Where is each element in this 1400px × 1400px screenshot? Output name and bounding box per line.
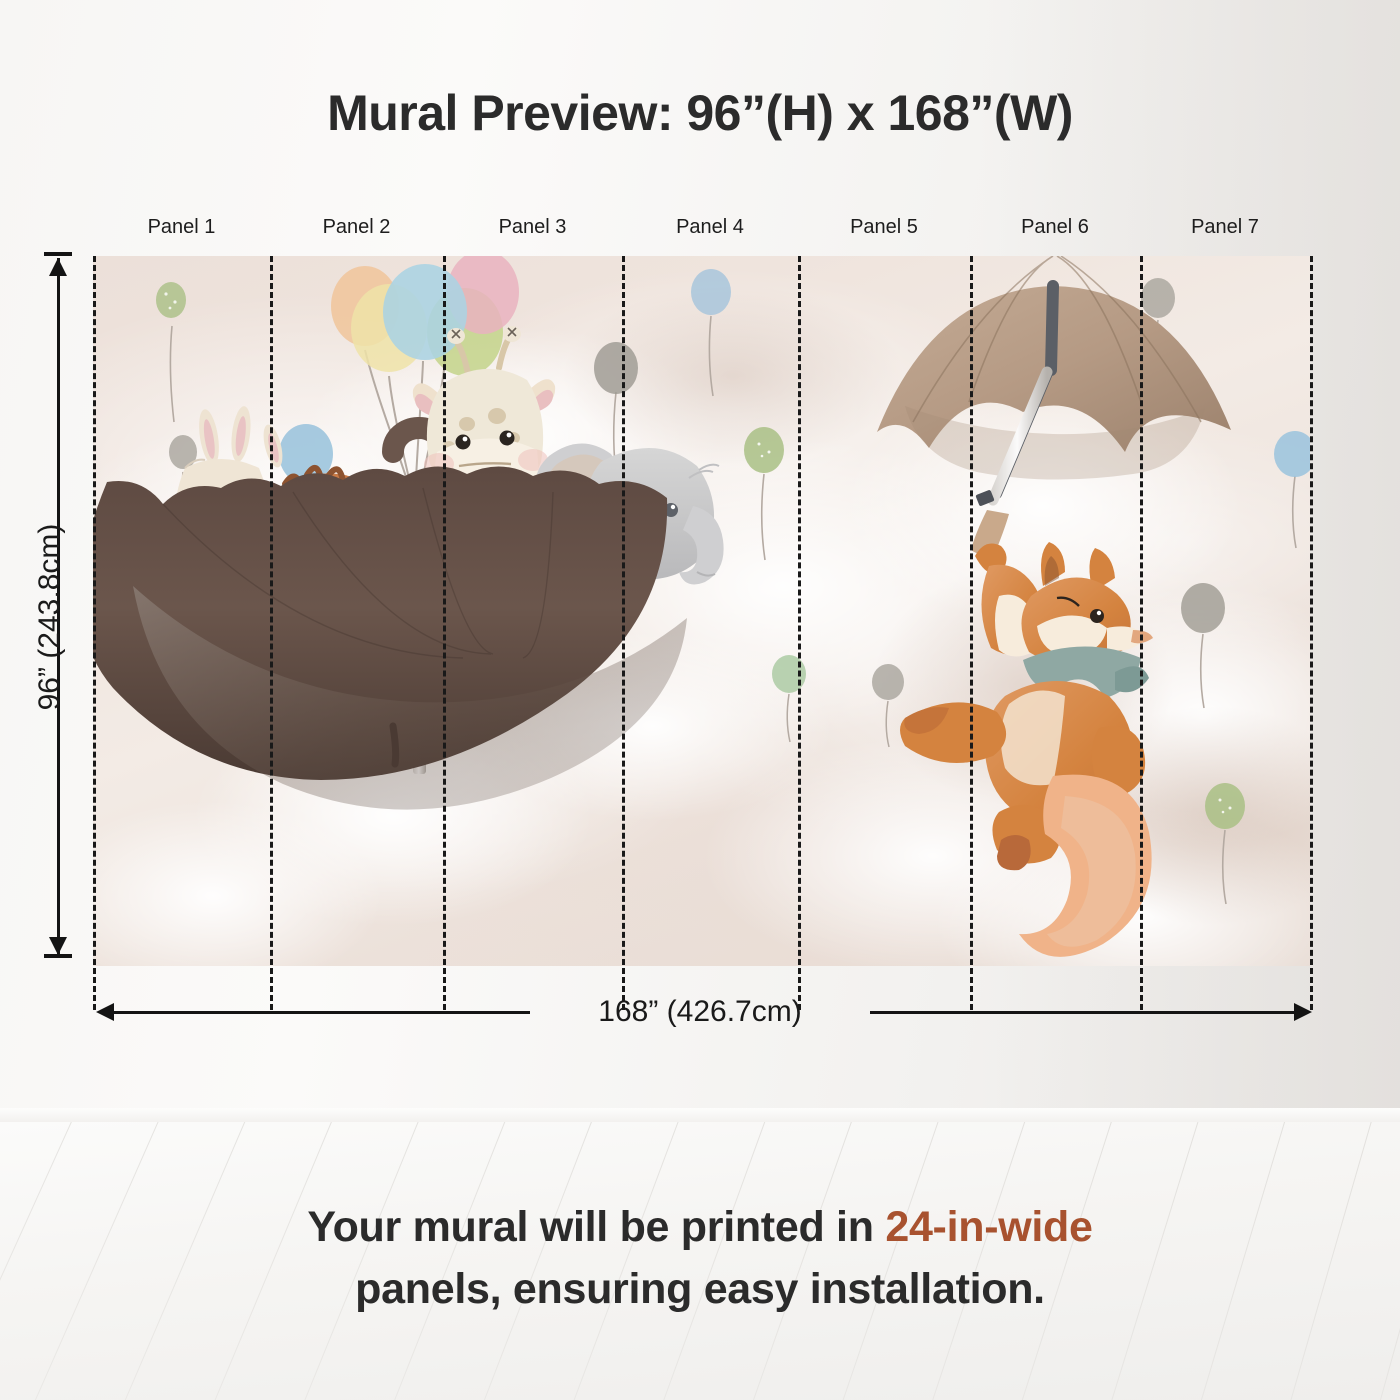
height-arrow-down [49, 937, 67, 955]
panel-label-4: Panel 4 [622, 216, 798, 239]
panel-label-6: Panel 6 [970, 216, 1140, 239]
panel-divider-4 [798, 256, 801, 1010]
width-dimension-label: 168” (426.7cm) [530, 995, 870, 1029]
panel-divider-5 [970, 256, 973, 1010]
panel-divider-3 [622, 256, 625, 1010]
panel-label-7: Panel 7 [1140, 216, 1310, 239]
height-tick-bottom [44, 954, 72, 958]
caption-prefix: Your mural will be printed in [307, 1203, 885, 1251]
panel-divider-2 [443, 256, 446, 1010]
caption-line-1: Your mural will be printed in 24-in-wide [0, 1196, 1400, 1258]
caption-accent: 24-in-wide [885, 1203, 1092, 1251]
height-tick-top [44, 252, 72, 256]
panel-divider-6 [1140, 256, 1143, 1010]
panel-label-3: Panel 3 [443, 216, 622, 239]
mural-artwork [93, 256, 1310, 966]
mural-preview-page: Mural Preview: 96”(H) x 168”(W) Panel 1P… [0, 0, 1400, 1400]
panel-label-2: Panel 2 [270, 216, 443, 239]
panel-divider-0 [93, 256, 96, 1010]
mural-illustration [93, 256, 1310, 966]
width-dimension-line-left [110, 1011, 530, 1014]
height-dimension-label: 96” (243.8cm) [33, 457, 67, 777]
panel-label-1: Panel 1 [93, 216, 270, 239]
width-arrow-right [1294, 1003, 1312, 1021]
page-title: Mural Preview: 96”(H) x 168”(W) [0, 84, 1400, 142]
width-dimension-line-right [870, 1011, 1294, 1014]
panel-label-5: Panel 5 [798, 216, 970, 239]
panel-divider-1 [270, 256, 273, 1010]
caption-line-2: panels, ensuring easy installation. [0, 1258, 1400, 1320]
footer-caption: Your mural will be printed in 24-in-wide… [0, 1196, 1400, 1320]
panel-divider-7 [1310, 256, 1313, 1010]
